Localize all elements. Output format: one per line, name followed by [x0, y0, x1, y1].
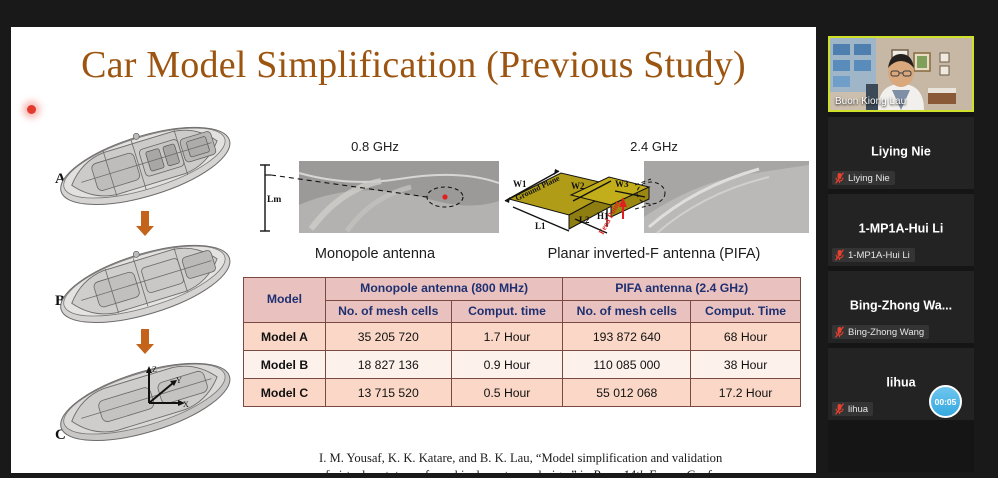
table-row: Model A 35 205 720 1.7 Hour 193 872 640 …	[244, 323, 801, 351]
table-row: Model C 13 715 520 0.5 Hour 55 012 068 1…	[244, 379, 801, 407]
cell-pifa-cells: 55 012 068	[563, 379, 691, 407]
car-model-c: C Z X	[27, 355, 242, 447]
citation-text: I. M. Yousaf, K. K. Katare, and B. K. La…	[319, 450, 769, 473]
cell-pifa-cells: 193 872 640	[563, 323, 691, 351]
svg-text:L2: L2	[579, 215, 590, 225]
results-table: Model Monopole antenna (800 MHz) PIFA an…	[243, 277, 801, 407]
flow-arrow-b-to-c	[27, 329, 242, 355]
cell-pifa-time: 17.2 Hour	[691, 379, 801, 407]
participant-display-name: Bing-Zhong Wa...	[828, 299, 974, 313]
mute-badge-name: lihua	[848, 404, 868, 415]
svg-text:W1: W1	[513, 179, 527, 189]
svg-text:L1: L1	[535, 221, 546, 231]
table-row: Model B 18 827 136 0.9 Hour 110 085 000 …	[244, 351, 801, 379]
car-model-b-illustration	[49, 237, 242, 329]
mute-badge-name: Liying Nie	[848, 173, 890, 184]
flow-arrow-a-to-b	[27, 211, 242, 237]
muted-microphone-icon	[835, 172, 844, 184]
pifa-antenna-section: 2.4 GHz	[499, 139, 809, 262]
cell-model: Model C	[244, 379, 326, 407]
cell-monopole-time: 0.9 Hour	[451, 351, 563, 379]
cell-monopole-cells: 18 827 136	[325, 351, 451, 379]
cell-monopole-time: 0.5 Hour	[451, 379, 563, 407]
participant-display-name: Liying Nie	[828, 145, 974, 159]
axis-indicator-icon: Z X Y	[139, 363, 195, 411]
participant-panel: Buon Kiong Lau Liying Nie Liying Nie 1-M…	[828, 36, 974, 472]
presentation-slide: Car Model Simplification (Previous Study…	[11, 27, 816, 473]
participant-display-name: 1-MP1A-Hui Li	[828, 222, 974, 236]
mute-badge: 1-MP1A-Hui Li	[832, 248, 915, 262]
svg-text:W2: W2	[571, 181, 585, 191]
participant-tile-lihua[interactable]: lihua lihua 00:05	[828, 348, 974, 420]
muted-microphone-icon	[835, 403, 844, 415]
header-pifa-cells: No. of mesh cells	[563, 300, 691, 323]
header-monopole-time: Comput. time	[451, 300, 563, 323]
muted-microphone-icon	[835, 326, 844, 338]
citation-line-2-italic: Proc. 14th Europ. Conf.	[593, 468, 714, 473]
mute-badge-name: 1-MP1A-Hui Li	[848, 250, 910, 261]
mute-badge: lihua	[832, 402, 873, 416]
mute-badge: Liying Nie	[832, 171, 895, 185]
monopole-frequency-label: 0.8 GHz	[251, 139, 499, 154]
cell-pifa-time: 38 Hour	[691, 351, 801, 379]
citation-line-2-text: of virtual prototypes for vehicular ante…	[319, 468, 593, 473]
citation-line-2: of virtual prototypes for vehicular ante…	[319, 467, 769, 473]
car-model-column: A	[27, 119, 242, 449]
pifa-diagram: W1 W2 W3 L1 L2 H1 Ground Plane Feed Poin…	[499, 157, 809, 239]
car-model-b: B	[27, 237, 242, 329]
cell-model: Model B	[244, 351, 326, 379]
monopole-caption: Monopole antenna	[251, 246, 499, 262]
table-subheader-row: No. of mesh cells Comput. time No. of me…	[244, 300, 801, 323]
mute-badge-name: Bing-Zhong Wang	[848, 327, 924, 338]
participant-tile-bing-zhong-wang[interactable]: Bing-Zhong Wa... Bing-Zhong Wang	[828, 271, 974, 343]
svg-text:Y: Y	[176, 376, 182, 385]
cell-pifa-cells: 110 085 000	[563, 351, 691, 379]
car-model-a-illustration	[49, 119, 242, 211]
header-model: Model	[244, 278, 326, 323]
timer-badge: 00:05	[929, 385, 962, 418]
cell-pifa-time: 68 Hour	[691, 323, 801, 351]
car-model-a: A	[27, 119, 242, 211]
header-group-pifa: PIFA antenna (2.4 GHz)	[563, 278, 801, 301]
cell-monopole-time: 1.7 Hour	[451, 323, 563, 351]
mute-badge: Bing-Zhong Wang	[832, 325, 929, 339]
header-monopole-cells: No. of mesh cells	[325, 300, 451, 323]
pifa-frequency-label: 2.4 GHz	[499, 139, 809, 154]
pifa-caption: Planar inverted-F antenna (PIFA)	[499, 246, 809, 262]
participant-tile-liying-nie[interactable]: Liying Nie Liying Nie	[828, 117, 974, 189]
cursor-dot	[27, 105, 36, 114]
page-title: Car Model Simplification (Previous Study…	[11, 43, 816, 87]
header-pifa-time: Comput. Time	[691, 300, 801, 323]
cell-model: Model A	[244, 323, 326, 351]
svg-text:Z: Z	[152, 365, 157, 374]
monopole-diagram	[251, 157, 499, 239]
monopole-antenna-section: 0.8 GHz Lm Monopole an	[251, 139, 499, 262]
muted-microphone-icon	[835, 249, 844, 261]
cell-monopole-cells: 13 715 520	[325, 379, 451, 407]
screen-root: Car Model Simplification (Previous Study…	[0, 0, 998, 478]
video-tile-name-label: Buon Kiong Lau	[835, 96, 906, 107]
citation-line-1: I. M. Yousaf, K. K. Katare, and B. K. La…	[319, 450, 769, 467]
svg-text:W3: W3	[615, 179, 629, 189]
video-tile-active-speaker[interactable]: Buon Kiong Lau	[828, 36, 974, 112]
participant-tile-hui-li[interactable]: 1-MP1A-Hui Li 1-MP1A-Hui Li	[828, 194, 974, 266]
cell-monopole-cells: 35 205 720	[325, 323, 451, 351]
header-group-monopole: Monopole antenna (800 MHz)	[325, 278, 563, 301]
table-header-row: Model Monopole antenna (800 MHz) PIFA an…	[244, 278, 801, 301]
monopole-lm-label: Lm	[267, 195, 281, 205]
svg-text:X: X	[183, 400, 189, 409]
